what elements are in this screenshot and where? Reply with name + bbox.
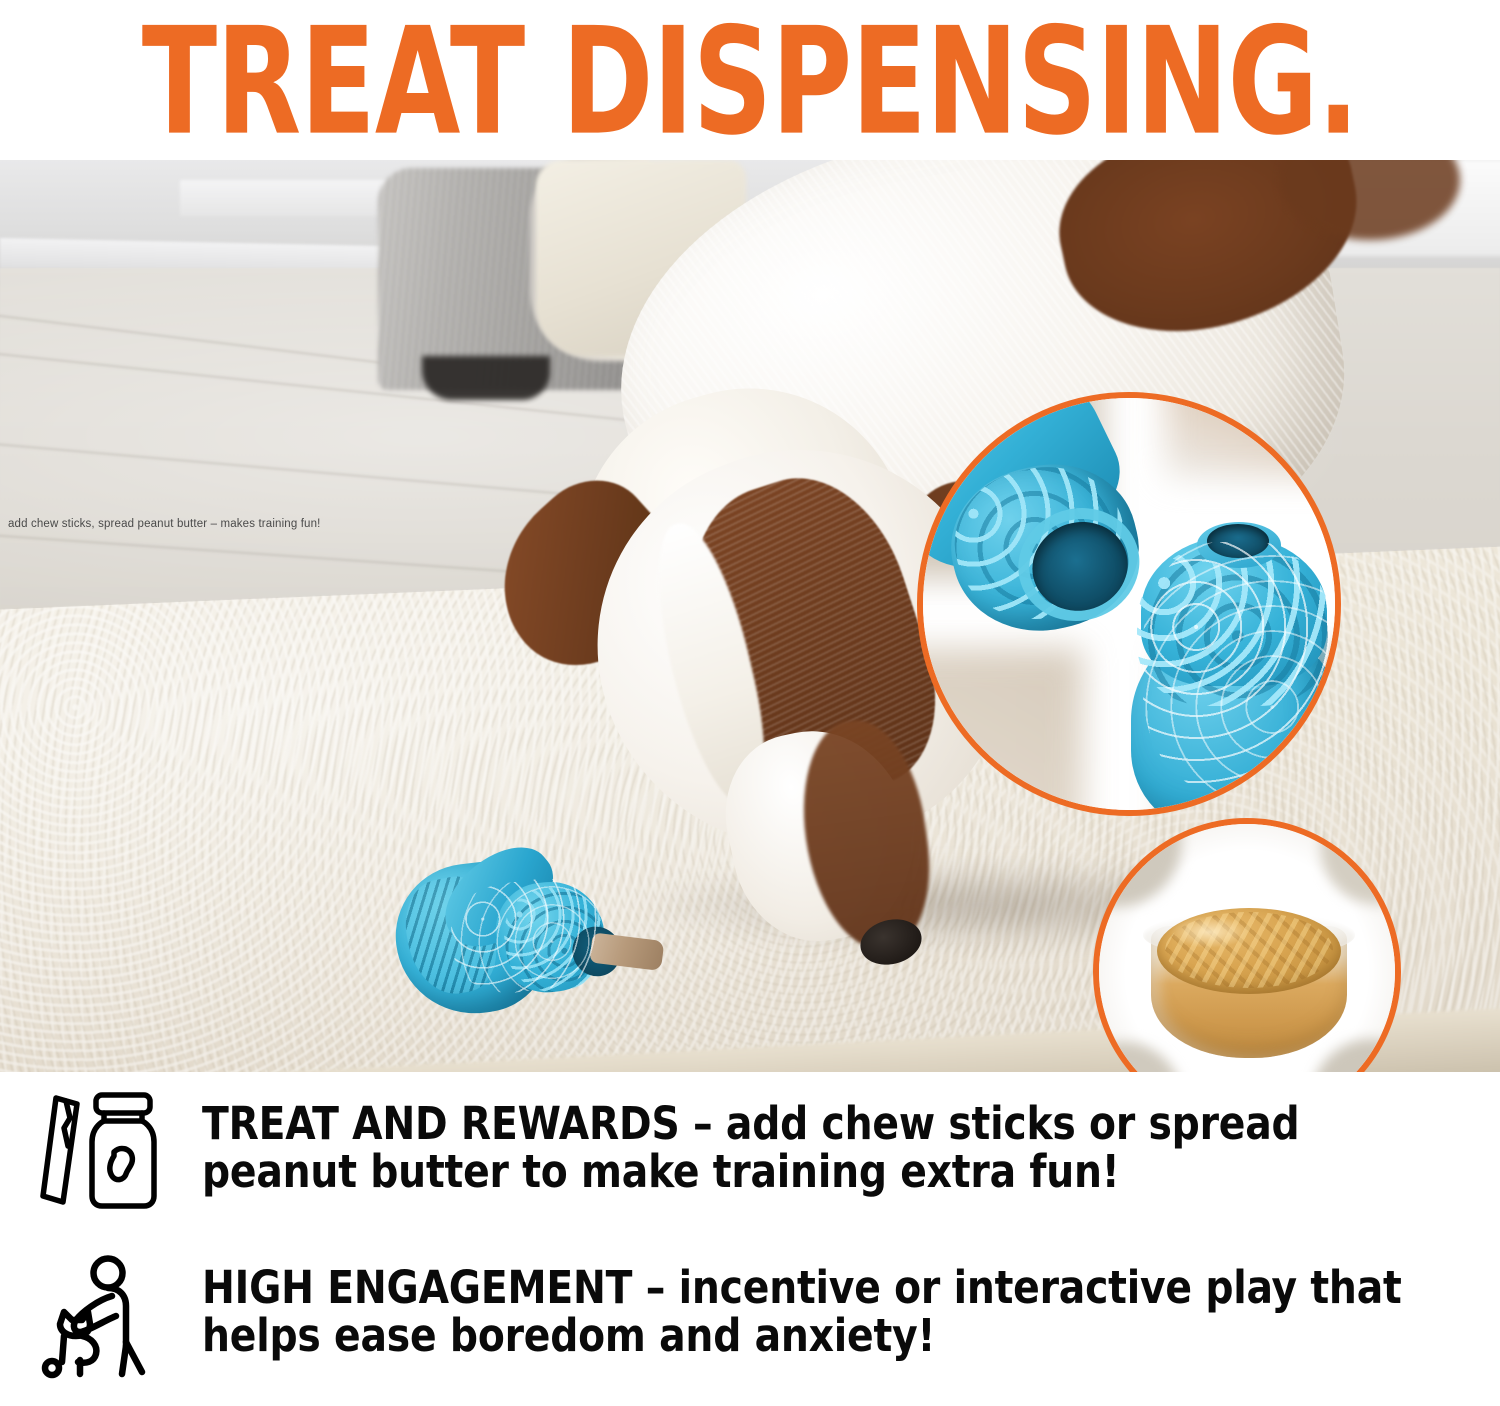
headline-bar: TREAT DISPENSING. xyxy=(0,0,1500,160)
product-toy-lower xyxy=(1113,522,1341,816)
photo-caption: add chew sticks, spread peanut butter – … xyxy=(8,518,321,530)
page-title: TREAT DISPENSING. xyxy=(142,4,1359,156)
feature-separator: – xyxy=(680,1097,726,1150)
peanut-butter-highlight xyxy=(1169,916,1249,948)
inset-product-closeup xyxy=(917,392,1341,816)
person-with-dog-icon xyxy=(30,1254,202,1379)
inset-blur-corner xyxy=(1165,392,1341,478)
feature-lead: HIGH ENGAGEMENT xyxy=(202,1261,632,1314)
feature-separator: – xyxy=(632,1261,678,1314)
product-toy-lower-droplets xyxy=(1143,542,1333,792)
chew-stick-and-peanut-butter-jar-icon xyxy=(30,1090,202,1215)
feature-lead: TREAT AND REWARDS xyxy=(202,1097,680,1150)
inset-peanut-butter xyxy=(1093,818,1401,1072)
feature-text: TREAT AND REWARDS – add chew sticks or s… xyxy=(202,1090,1432,1195)
product-infographic: TREAT DISPENSING. xyxy=(0,0,1500,1406)
feature-item-high-engagement: HIGH ENGAGEMENT – incentive or interacti… xyxy=(30,1254,1470,1379)
inset-blur-corner xyxy=(917,648,1083,816)
hero-photo: add chew sticks, spread peanut butter – … xyxy=(0,160,1500,1072)
feature-text: HIGH ENGAGEMENT – incentive or interacti… xyxy=(202,1254,1432,1359)
chew-toy-on-rug xyxy=(383,837,651,1032)
feature-list: TREAT AND REWARDS – add chew sticks or s… xyxy=(0,1072,1500,1406)
feature-item-treat-and-rewards: TREAT AND REWARDS – add chew sticks or s… xyxy=(30,1090,1470,1215)
